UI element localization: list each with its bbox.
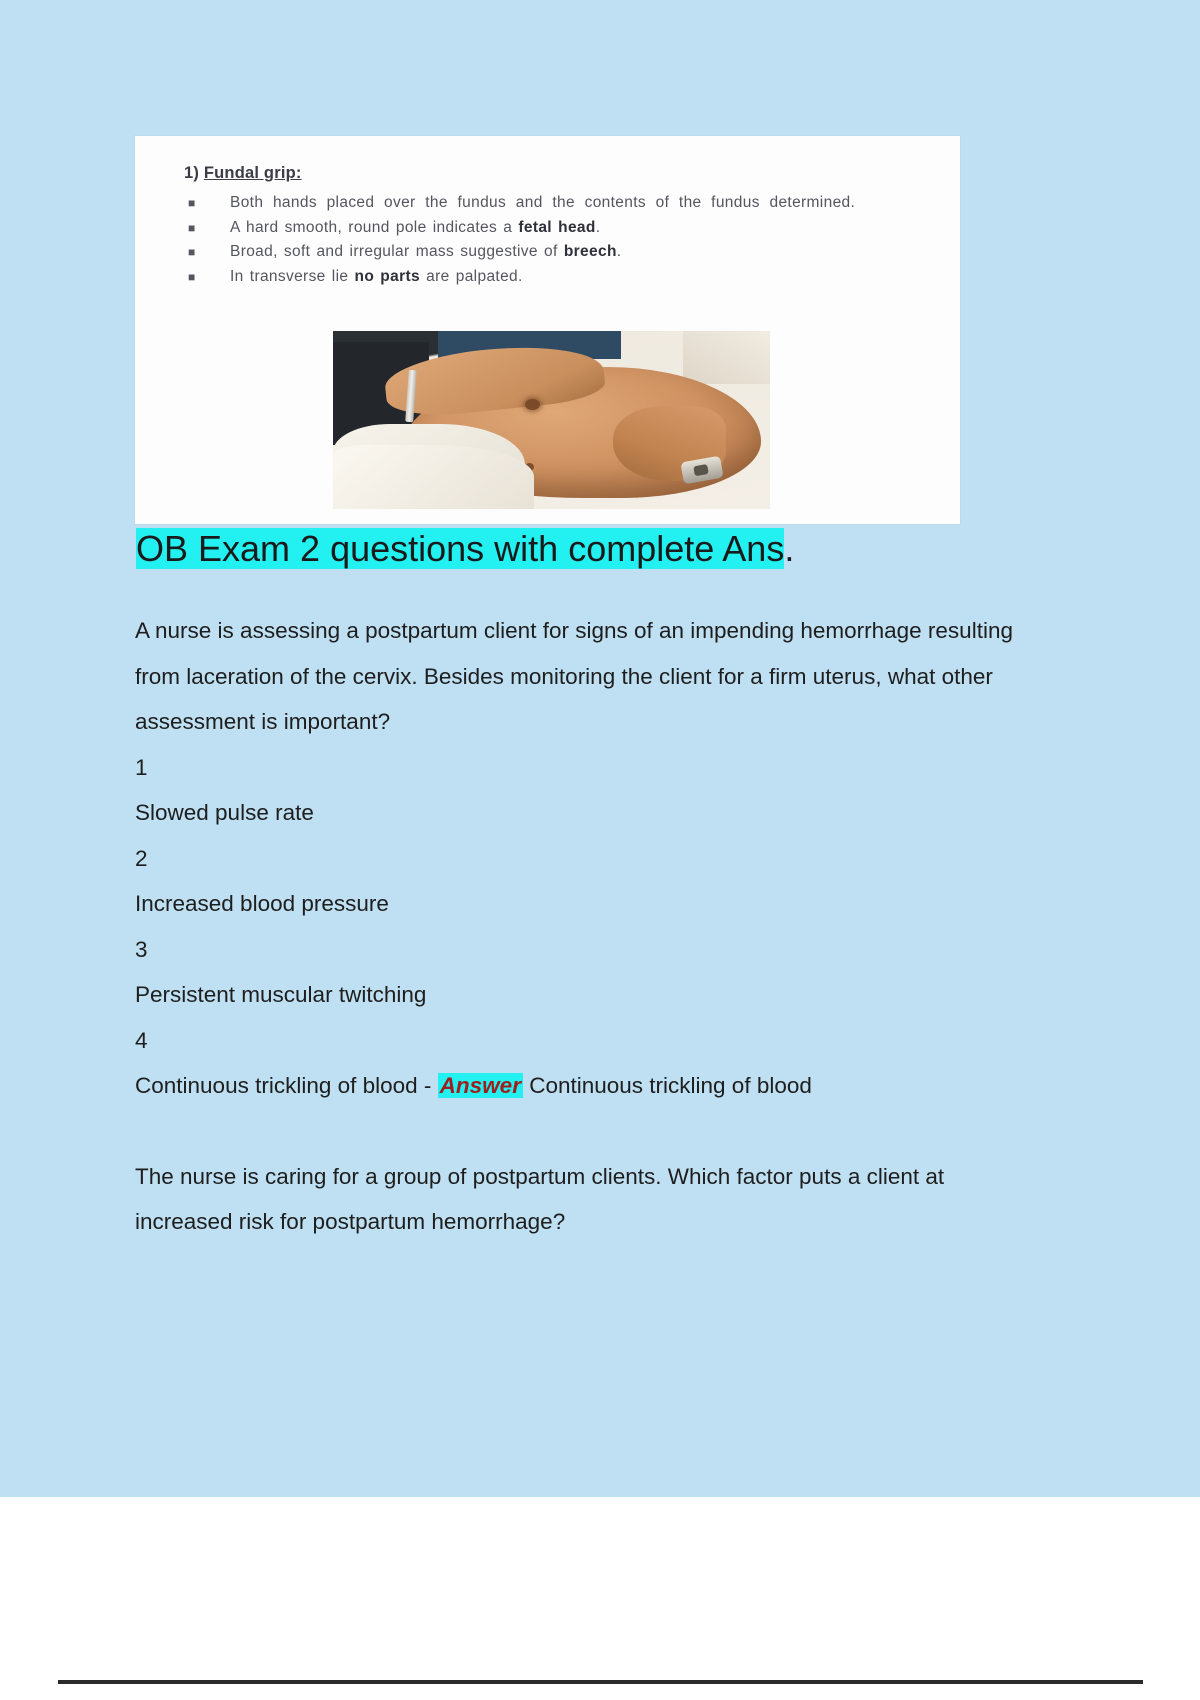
scan-note-bullet: ■ Both hands placed over the fundus and … bbox=[184, 192, 924, 215]
abdominal-palpation-photo bbox=[333, 331, 770, 509]
scan-note-heading-text: Fundal grip: bbox=[204, 164, 302, 182]
question-1-option-number: 3 bbox=[135, 927, 1015, 973]
question-1-answer-line: Continuous trickling of blood - Answer C… bbox=[135, 1063, 1015, 1109]
scan-note-bullet-list: ■ Both hands placed over the fundus and … bbox=[184, 192, 924, 290]
scan-note-heading: 1) Fundal grip: bbox=[184, 164, 302, 183]
bullet-point-icon: ■ bbox=[188, 217, 196, 240]
scan-note-bullet-tail: . bbox=[596, 219, 601, 236]
question-1-option-text: Persistent muscular twitching bbox=[135, 972, 1015, 1018]
answer-badge: Answer bbox=[438, 1073, 523, 1098]
scan-note-bullet: ■ In transverse lie no parts are palpate… bbox=[184, 266, 924, 289]
answer-separator: - bbox=[418, 1073, 438, 1098]
question-1-answer-text: Continuous trickling of blood bbox=[523, 1073, 812, 1098]
document-viewer-panel: 1) Fundal grip: ■ Both hands placed over… bbox=[0, 0, 1200, 1497]
scan-note-bullet-tail: . bbox=[617, 243, 622, 260]
paragraph-spacer bbox=[135, 1109, 1015, 1154]
question-1-option-text: Increased blood pressure bbox=[135, 881, 1015, 927]
scanned-note-card: 1) Fundal grip: ■ Both hands placed over… bbox=[135, 136, 960, 524]
scan-note-bullet-text: In transverse lie bbox=[230, 268, 355, 285]
question-1-option-text: Slowed pulse rate bbox=[135, 790, 1015, 836]
document-body: A nurse is assessing a postpartum client… bbox=[135, 608, 1015, 1245]
page-root: 1) Fundal grip: ■ Both hands placed over… bbox=[0, 0, 1200, 1700]
question-1-option-number: 4 bbox=[135, 1018, 1015, 1064]
scan-note-bullet-emphasis: fetal head bbox=[518, 219, 595, 236]
question-1-option-text: Continuous trickling of blood bbox=[135, 1073, 418, 1098]
scan-note-bullet-text: Broad, soft and irregular mass suggestiv… bbox=[230, 243, 564, 260]
document-title: OB Exam 2 questions with complete Ans. bbox=[136, 527, 794, 571]
footer-divider bbox=[58, 1680, 1143, 1684]
scan-note-bullet-emphasis: breech bbox=[564, 243, 617, 260]
document-title-highlight: OB Exam 2 questions with complete Ans bbox=[136, 528, 784, 569]
document-title-tail: . bbox=[784, 528, 794, 569]
question-1-option-number: 2 bbox=[135, 836, 1015, 882]
scan-note-bullet-text: Both hands placed over the fundus and th… bbox=[230, 194, 855, 211]
bullet-point-icon: ■ bbox=[188, 192, 196, 215]
bullet-point-icon: ■ bbox=[188, 241, 196, 264]
page-footer-area bbox=[0, 1497, 1200, 1700]
scan-note-bullet-emphasis: no parts bbox=[355, 268, 420, 285]
question-1-stem: A nurse is assessing a postpartum client… bbox=[135, 608, 1015, 745]
question-2-stem: The nurse is caring for a group of postp… bbox=[135, 1154, 1015, 1245]
scan-note-bullet-tail: are palpated. bbox=[420, 268, 523, 285]
scan-note-bullet: ■ A hard smooth, round pole indicates a … bbox=[184, 217, 924, 240]
scan-note-bullet: ■ Broad, soft and irregular mass suggest… bbox=[184, 241, 924, 264]
scan-note-heading-number: 1) bbox=[184, 164, 199, 182]
question-1-option-number: 1 bbox=[135, 745, 1015, 791]
bullet-point-icon: ■ bbox=[188, 266, 196, 289]
scan-note-bullet-text: A hard smooth, round pole indicates a bbox=[230, 219, 518, 236]
